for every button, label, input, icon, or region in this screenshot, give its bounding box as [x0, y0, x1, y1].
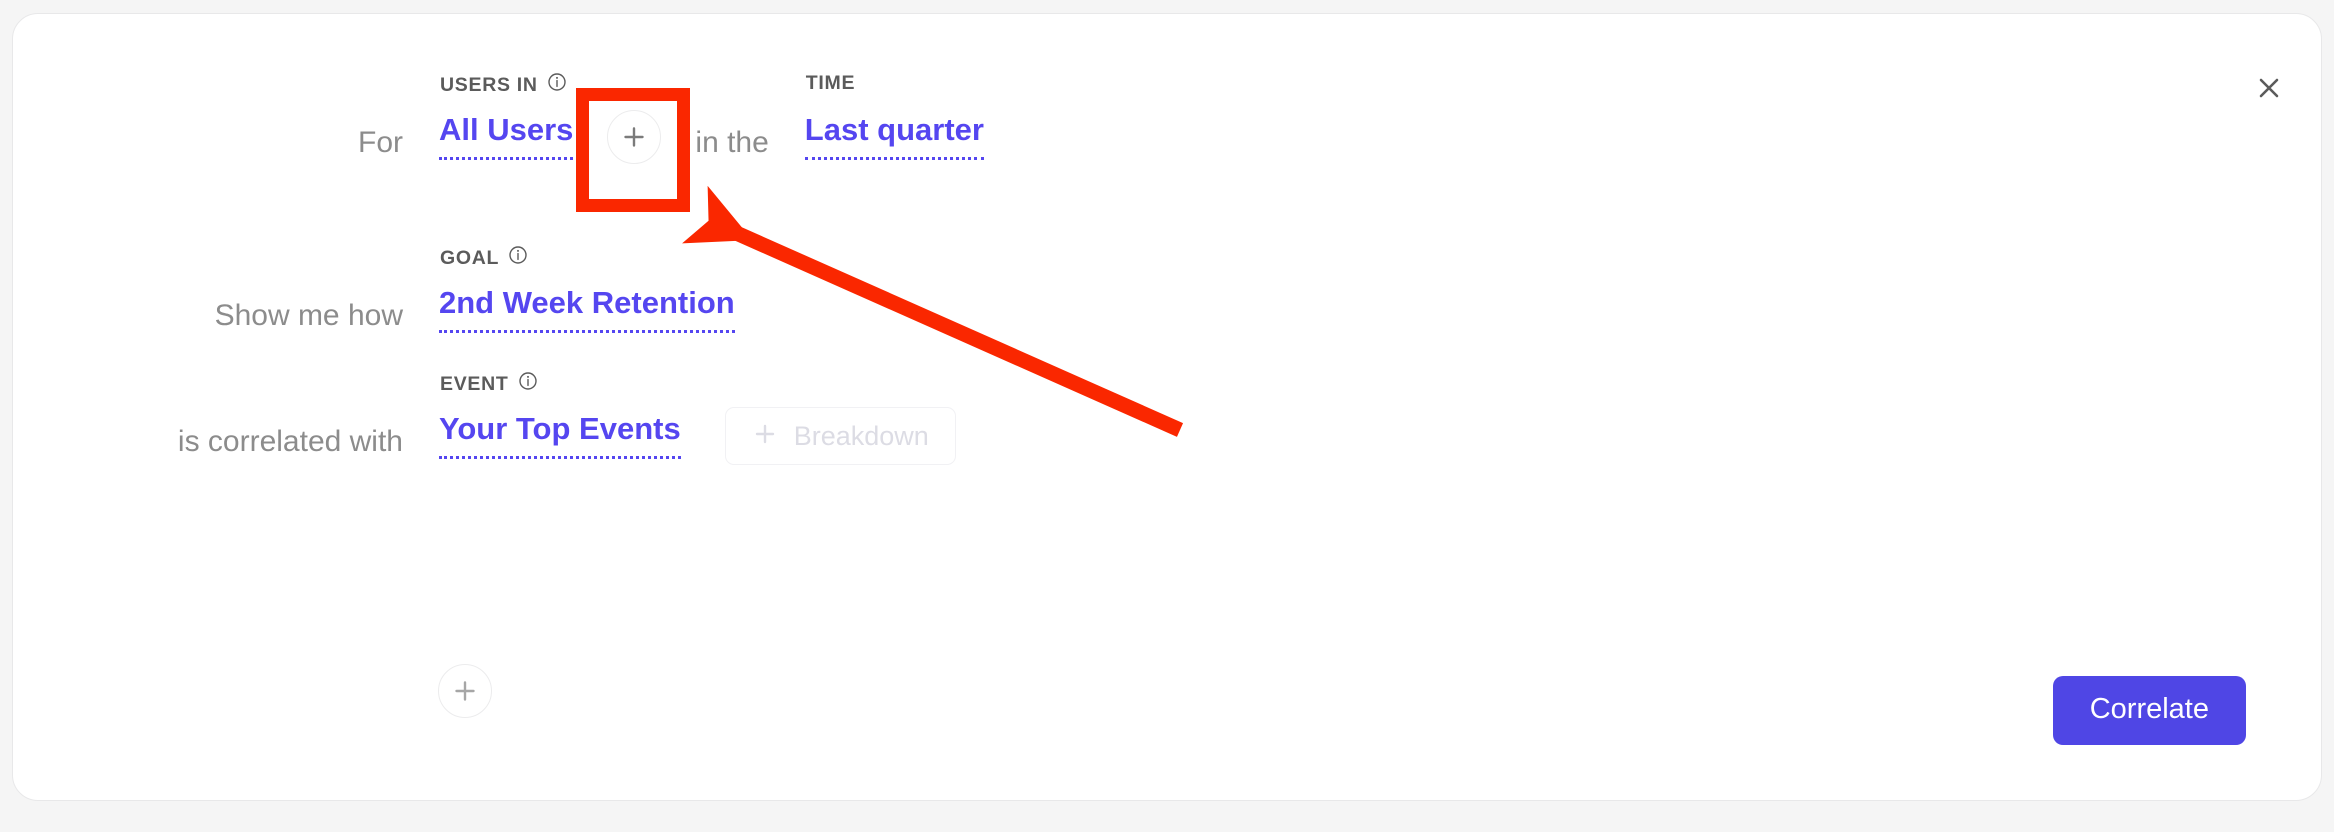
- correlate-button[interactable]: Correlate: [2053, 676, 2246, 745]
- add-breakdown-label: Breakdown: [794, 421, 929, 452]
- time-value[interactable]: Last quarter: [805, 113, 984, 160]
- event-label: EVENT: [440, 371, 538, 397]
- time-label-text: TIME: [806, 72, 855, 95]
- close-button[interactable]: [2251, 70, 2287, 106]
- row-event-lead: is correlated with: [13, 427, 403, 469]
- info-icon[interactable]: [547, 72, 567, 98]
- in-the-connector: in the: [695, 128, 768, 170]
- time-label: TIME: [806, 72, 855, 95]
- plus-icon: [452, 678, 478, 704]
- row-users-lead: For: [13, 128, 403, 170]
- goal-label: GOAL: [440, 245, 528, 271]
- row-users: For USERS IN All Users: [13, 110, 984, 170]
- add-users-filter-slot: [607, 110, 661, 164]
- row-goal: Show me how GOAL 2nd Week Retention: [13, 286, 735, 343]
- add-users-filter-button[interactable]: [607, 110, 661, 164]
- row-goal-lead: Show me how: [13, 301, 403, 343]
- users-in-field: USERS IN All Users: [439, 113, 573, 170]
- goal-field: GOAL 2nd Week Retention: [439, 286, 735, 343]
- users-in-label-text: USERS IN: [440, 74, 538, 97]
- goal-label-text: GOAL: [440, 247, 499, 270]
- info-icon[interactable]: [508, 245, 528, 271]
- screen-root: For USERS IN All Users: [0, 0, 2334, 832]
- close-icon: [2254, 73, 2284, 103]
- plus-icon: [752, 421, 778, 452]
- users-in-label: USERS IN: [440, 72, 567, 98]
- add-step-slot: [438, 664, 492, 718]
- add-step-button[interactable]: [438, 664, 492, 718]
- users-in-value[interactable]: All Users: [439, 113, 573, 160]
- goal-value[interactable]: 2nd Week Retention: [439, 286, 735, 333]
- event-label-text: EVENT: [440, 373, 509, 396]
- plus-icon: [621, 124, 647, 150]
- event-field: EVENT Your Top Events: [439, 412, 681, 469]
- time-field: TIME Last quarter: [805, 113, 984, 170]
- event-value[interactable]: Your Top Events: [439, 412, 681, 459]
- correlation-query-card: For USERS IN All Users: [12, 13, 2322, 801]
- row-event: is correlated with EVENT Your Top Events: [13, 407, 956, 469]
- info-icon[interactable]: [518, 371, 538, 397]
- add-breakdown-button[interactable]: Breakdown: [725, 407, 956, 465]
